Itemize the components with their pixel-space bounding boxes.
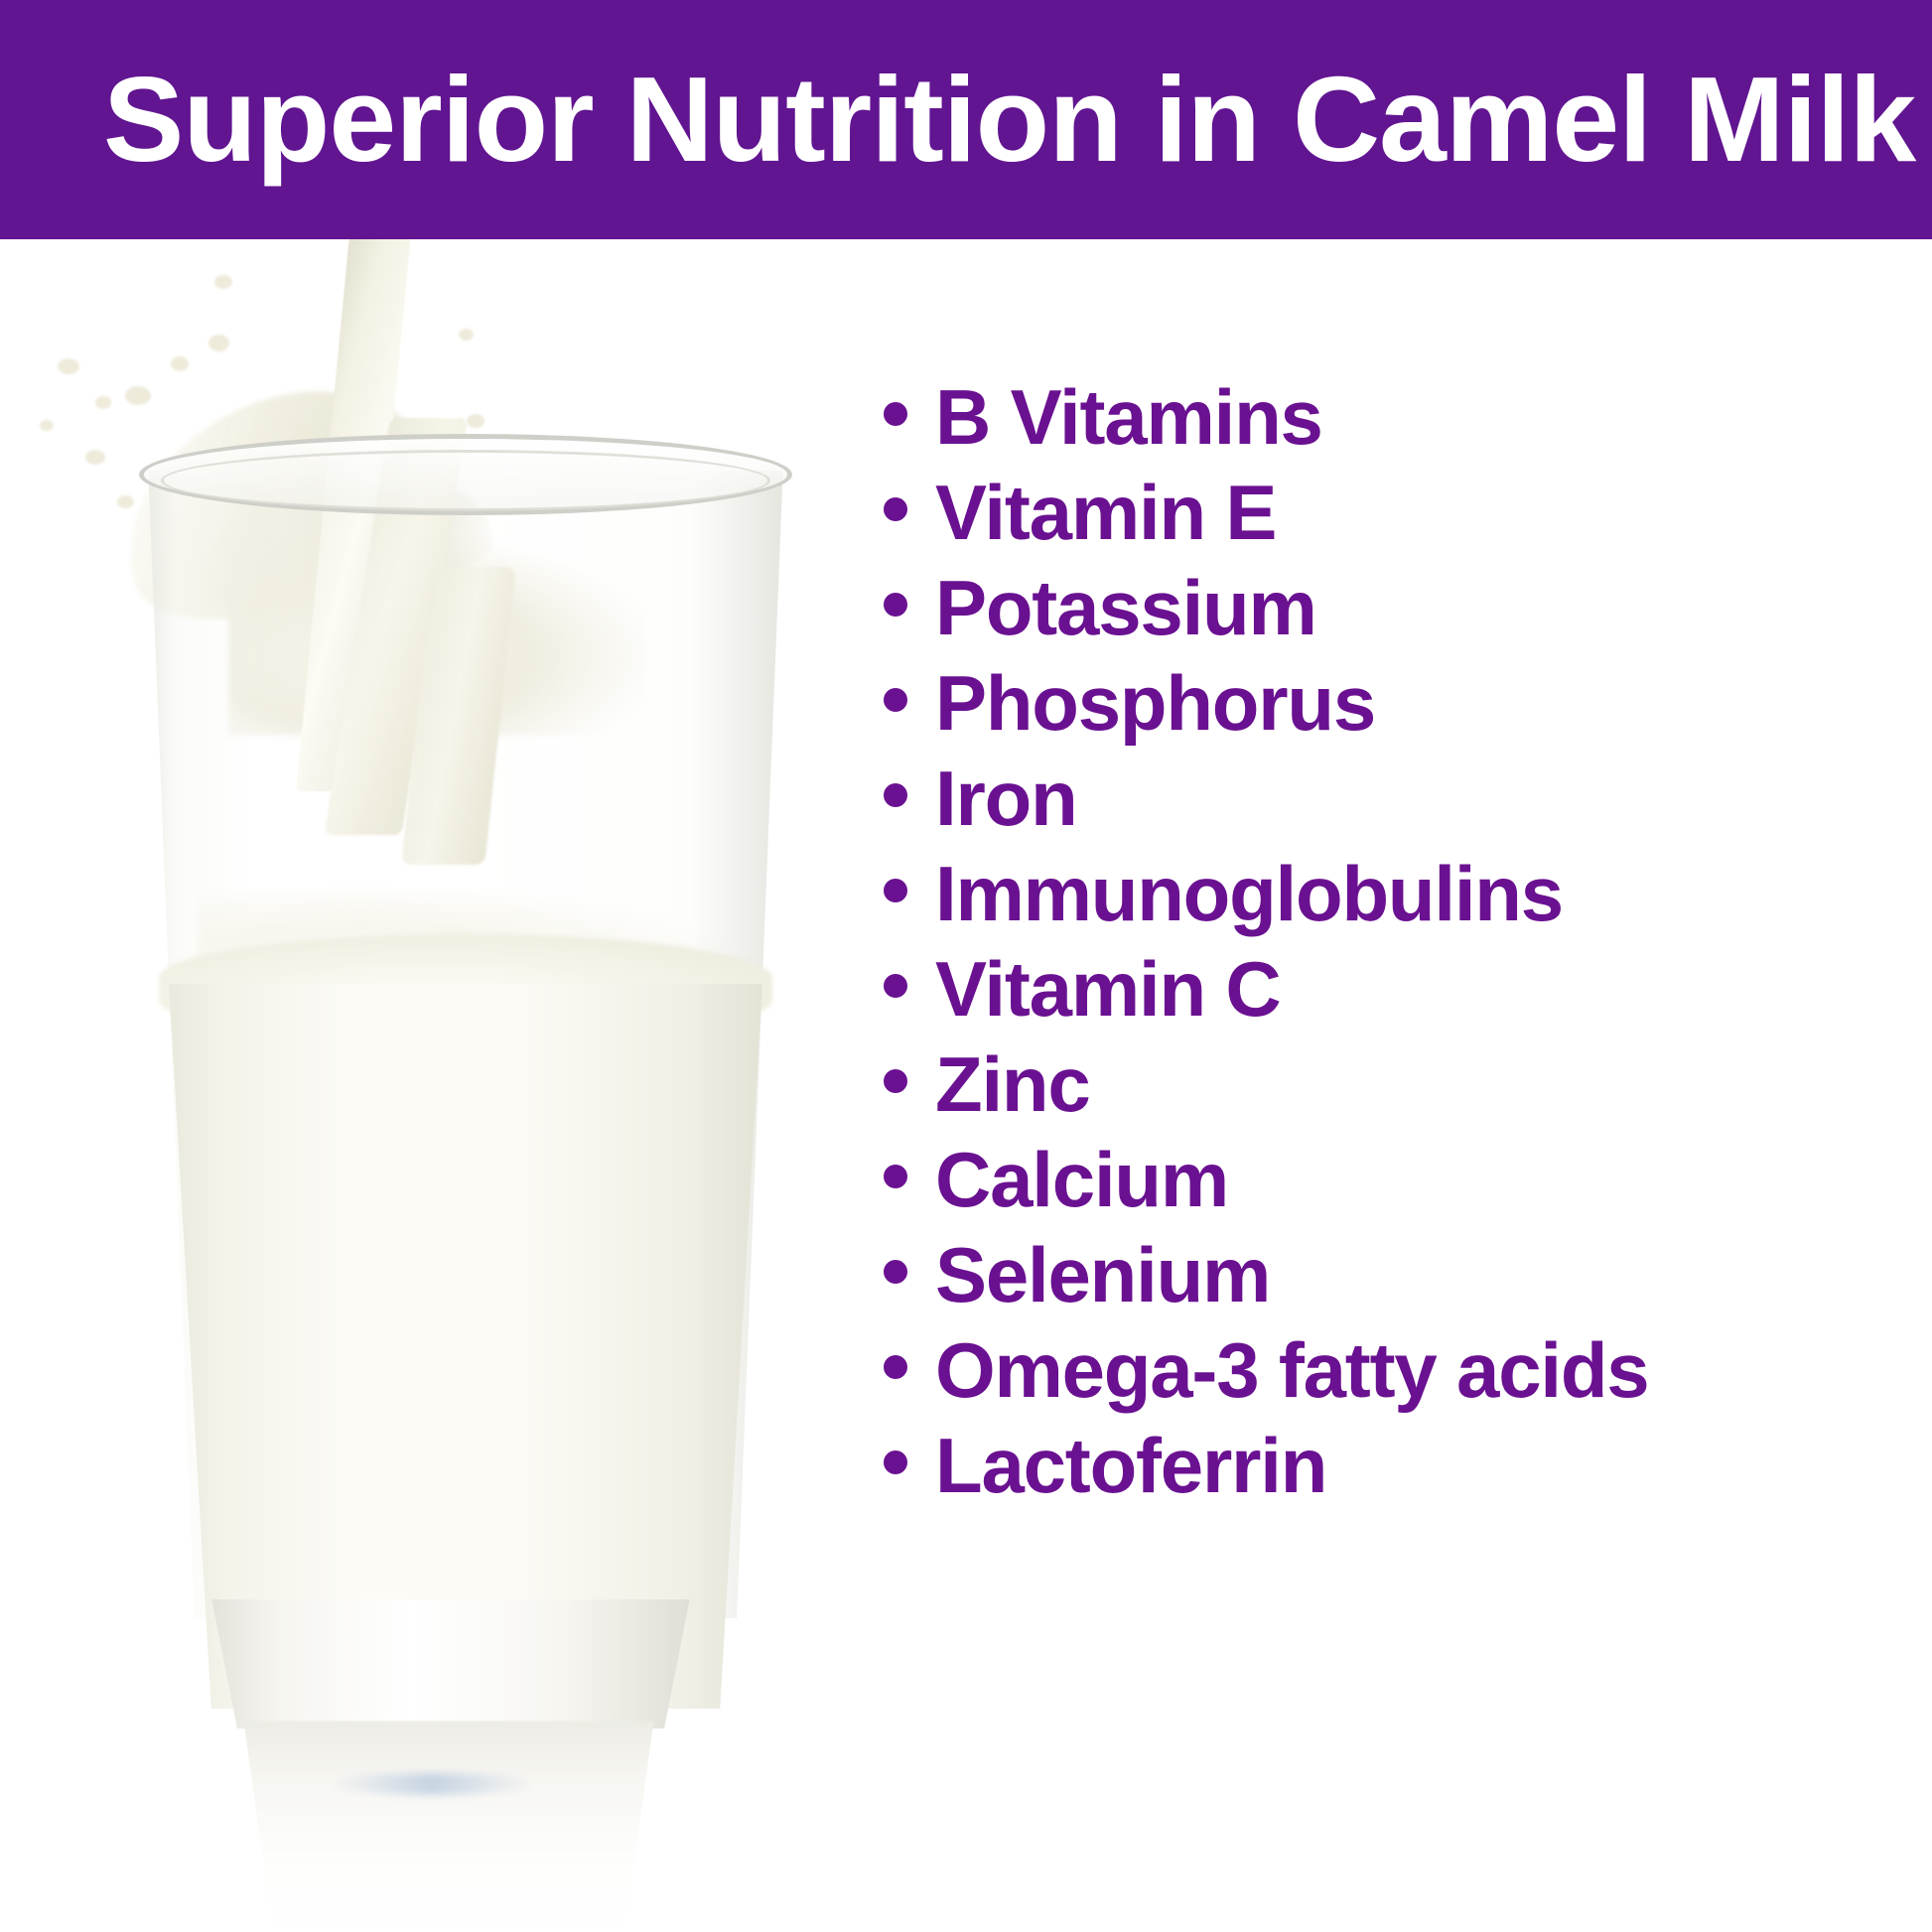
nutrient-label: Vitamin C: [935, 941, 1281, 1036]
milk-droplet: [171, 356, 189, 371]
page-title: Superior Nutrition in Camel Milk: [103, 50, 1851, 189]
glass-of-milk-photo: [0, 239, 854, 1932]
bullet-icon: [884, 1355, 907, 1379]
nutrient-label: Calcium: [935, 1132, 1228, 1227]
nutrient-list-item: Calcium: [856, 1132, 1932, 1227]
milk-droplet: [125, 386, 151, 405]
nutrient-label: Iron: [935, 751, 1077, 846]
milk-droplet: [467, 414, 484, 428]
nutrient-label: B Vitamins: [935, 369, 1322, 465]
nutrient-label: Zinc: [935, 1036, 1090, 1132]
milk-droplet: [214, 275, 232, 289]
nutrient-list-item: Vitamin E: [856, 465, 1932, 560]
nutrient-list-item: B Vitamins: [856, 369, 1932, 465]
nutrient-list-item: Phosphorus: [856, 655, 1932, 751]
nutrient-label: Vitamin E: [935, 465, 1276, 560]
milk-droplet: [208, 335, 229, 351]
glass-base: [197, 1599, 705, 1728]
milk-droplet: [117, 495, 134, 508]
bullet-icon: [884, 1450, 907, 1474]
nutrient-list-item: Potassium: [856, 560, 1932, 655]
bullet-icon: [884, 688, 907, 712]
bullet-icon: [884, 497, 907, 521]
nutrient-list-item: Iron: [856, 751, 1932, 846]
bullet-icon: [884, 593, 907, 617]
bullet-icon: [884, 783, 907, 807]
nutrient-list-item: Immunoglobulins: [856, 846, 1932, 941]
nutrient-list-item: Selenium: [856, 1227, 1932, 1322]
nutrient-list-item: Lactoferrin: [856, 1418, 1932, 1513]
glass-reflection: [205, 1721, 693, 1932]
milk-droplet: [58, 358, 79, 374]
nutrient-label: Selenium: [935, 1227, 1270, 1322]
bullet-icon: [884, 402, 907, 426]
bullet-icon: [884, 1165, 907, 1188]
bullet-icon: [884, 1260, 907, 1284]
nutrient-label: Potassium: [935, 560, 1316, 655]
nutrient-list: B VitaminsVitamin EPotassiumPhosphorusIr…: [856, 369, 1932, 1513]
infographic-canvas: Superior Nutrition in Camel Milk: [0, 0, 1932, 1932]
bullet-icon: [884, 974, 907, 998]
header-bar: Superior Nutrition in Camel Milk: [0, 0, 1932, 239]
milk-droplet: [459, 329, 474, 341]
bullet-icon: [884, 1069, 907, 1093]
milk-droplet: [95, 396, 111, 409]
bullet-icon: [884, 879, 907, 902]
nutrient-label: Omega-3 fatty acids: [935, 1322, 1648, 1418]
glass-rim-inner: [161, 450, 770, 511]
nutrient-label: Immunoglobulins: [935, 846, 1563, 941]
milk-droplet: [40, 420, 54, 431]
nutrient-list-item: Vitamin C: [856, 941, 1932, 1036]
milk-droplet: [85, 450, 105, 465]
nutrient-list-item: Zinc: [856, 1036, 1932, 1132]
glass-reflection-tint: [328, 1773, 536, 1795]
nutrient-label: Phosphorus: [935, 655, 1375, 751]
nutrient-list-item: Omega-3 fatty acids: [856, 1322, 1932, 1418]
nutrient-label: Lactoferrin: [935, 1418, 1326, 1513]
